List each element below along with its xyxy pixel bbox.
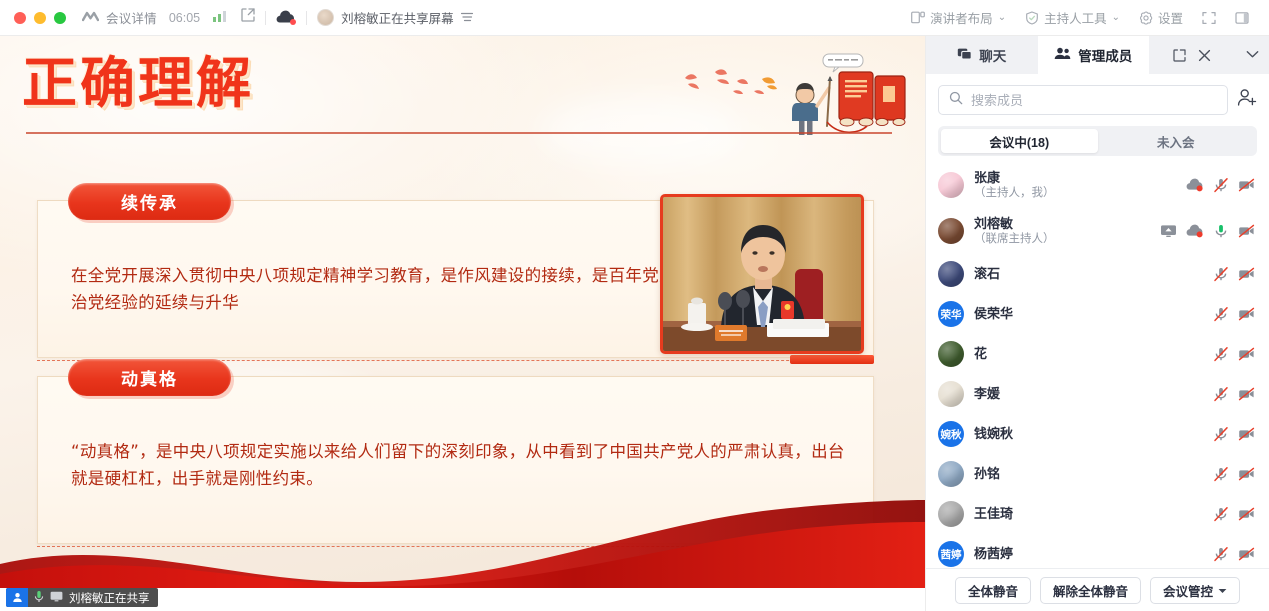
search-row bbox=[926, 74, 1269, 123]
participant-status-icons bbox=[1213, 346, 1255, 362]
speaker-layout-button[interactable]: 演讲者布局 ⌄ bbox=[903, 4, 1014, 31]
avatar: 茜婷 bbox=[938, 541, 964, 567]
camera-off-icon[interactable] bbox=[1238, 177, 1255, 193]
tencent-meeting-logo-icon bbox=[82, 9, 99, 27]
participant-row[interactable]: 张康（主持人，我） bbox=[926, 162, 1269, 208]
participant-name-block: 滚石 bbox=[974, 266, 1203, 282]
minimize-window-button[interactable] bbox=[34, 12, 46, 24]
gear-icon bbox=[1139, 11, 1153, 25]
avatar bbox=[938, 341, 964, 367]
divider bbox=[265, 11, 266, 25]
avatar bbox=[938, 218, 964, 244]
participant-name: 李媛 bbox=[974, 386, 1203, 402]
speaker-photo bbox=[660, 194, 864, 354]
participant-row[interactable]: 孙铭 bbox=[926, 454, 1269, 494]
close-window-button[interactable] bbox=[14, 12, 26, 24]
camera-off-icon[interactable] bbox=[1238, 306, 1255, 322]
search-box[interactable] bbox=[938, 85, 1228, 115]
shared-screen-stage[interactable]: 正确理解 续传承 在全党开展深入贯彻中央八项规定精神学习教育，是作风建设的接续，… bbox=[0, 36, 925, 588]
participant-status-icons bbox=[1213, 266, 1255, 282]
participant-row[interactable]: 王佳琦 bbox=[926, 494, 1269, 534]
mic-off-icon[interactable] bbox=[1213, 546, 1229, 562]
participant-status-icons bbox=[1160, 223, 1255, 239]
person-icon[interactable] bbox=[6, 588, 28, 607]
presentation-slide: 正确理解 续传承 在全党开展深入贯彻中央八项规定精神学习教育，是作风建设的接续，… bbox=[0, 36, 925, 588]
avatar bbox=[938, 261, 964, 287]
elapsed-time: 06:05 bbox=[169, 11, 200, 25]
participant-list[interactable]: 张康（主持人，我）刘榕敏（联席主持人）滚石荣华侯荣华花李媛婉秋钱婉秋孙铭王佳琦茜… bbox=[926, 162, 1269, 568]
mic-icon[interactable] bbox=[34, 590, 44, 606]
host-tools-label: 主持人工具 bbox=[1044, 8, 1107, 27]
cloud-record-icon[interactable] bbox=[276, 10, 296, 26]
unmute-all-label: 解除全体静音 bbox=[1053, 581, 1128, 600]
participant-name-block: 花 bbox=[974, 346, 1203, 362]
external-link-icon[interactable] bbox=[241, 8, 255, 27]
mic-off-icon[interactable] bbox=[1213, 506, 1229, 522]
cloud-record-icon bbox=[1186, 224, 1204, 238]
participant-name-block: 杨茜婷 bbox=[974, 546, 1203, 562]
meeting-controls-button[interactable]: 会议管控 bbox=[1150, 577, 1240, 604]
window-controls[interactable] bbox=[0, 12, 66, 24]
search-input[interactable] bbox=[971, 93, 1217, 108]
slide-title: 正确理解 bbox=[22, 56, 254, 111]
mic-off-icon[interactable] bbox=[1213, 306, 1229, 322]
titlebar-right-controls: 演讲者布局 ⌄ 主持人工具 ⌄ 设置 bbox=[903, 4, 1269, 31]
participant-status-icons bbox=[1213, 386, 1255, 402]
popout-icon[interactable] bbox=[1173, 49, 1186, 62]
card-pill-label: 续传承 bbox=[68, 183, 231, 220]
participant-name-block: 孙铭 bbox=[974, 466, 1203, 482]
mic-off-icon[interactable] bbox=[1213, 266, 1229, 282]
participant-status-icons bbox=[1213, 546, 1255, 562]
divider bbox=[306, 11, 307, 25]
participant-name-block: 刘榕敏（联席主持人） bbox=[974, 216, 1150, 247]
participant-row[interactable]: 滚石 bbox=[926, 254, 1269, 294]
sharer-avatar bbox=[317, 9, 334, 26]
camera-off-icon[interactable] bbox=[1238, 346, 1255, 362]
share-status-overlay[interactable]: 刘榕敏正在共享 bbox=[6, 588, 158, 607]
avatar bbox=[938, 461, 964, 487]
participant-name: 杨茜婷 bbox=[974, 546, 1203, 562]
camera-off-icon[interactable] bbox=[1238, 266, 1255, 282]
screen-share-icon bbox=[1160, 224, 1177, 238]
participant-row[interactable]: 婉秋钱婉秋 bbox=[926, 414, 1269, 454]
camera-off-icon[interactable] bbox=[1238, 546, 1255, 562]
layout-icon bbox=[911, 11, 925, 24]
panel-tab-bar: 聊天 管理成员 bbox=[926, 36, 1269, 74]
speaker-layout-label: 演讲者布局 bbox=[930, 8, 993, 27]
cartoon-illustration bbox=[667, 50, 917, 140]
mic-off-icon[interactable] bbox=[1213, 466, 1229, 482]
recording-indicator-dot bbox=[290, 19, 296, 25]
panel-window-controls bbox=[1149, 36, 1235, 74]
chevron-down-icon bbox=[1246, 46, 1259, 64]
close-icon[interactable] bbox=[1198, 49, 1211, 62]
screen-icon[interactable] bbox=[50, 591, 63, 605]
meeting-details-group[interactable]: 会议详情 bbox=[82, 8, 157, 27]
participant-row[interactable]: 茜婷杨茜婷 bbox=[926, 534, 1269, 568]
camera-off-icon[interactable] bbox=[1238, 506, 1255, 522]
caret-down-icon bbox=[1218, 583, 1227, 597]
camera-off-icon[interactable] bbox=[1238, 426, 1255, 442]
participant-name: 孙铭 bbox=[974, 466, 1203, 482]
mic-off-icon[interactable] bbox=[1213, 426, 1229, 442]
participant-name-block: 李媛 bbox=[974, 386, 1203, 402]
chat-icon bbox=[957, 47, 972, 64]
mic-off-icon[interactable] bbox=[1213, 177, 1229, 193]
avatar bbox=[938, 381, 964, 407]
cloud-record-icon bbox=[1186, 178, 1204, 192]
signal-bars-icon[interactable] bbox=[213, 9, 227, 27]
segment-in-meeting[interactable]: 会议中(18) bbox=[941, 129, 1098, 153]
title-underline-rule bbox=[26, 132, 892, 134]
tab-manage-members-label: 管理成员 bbox=[1078, 45, 1132, 65]
participant-name: 侯荣华 bbox=[974, 306, 1203, 322]
participant-status-icons bbox=[1213, 466, 1255, 482]
participant-name-block: 钱婉秋 bbox=[974, 426, 1203, 442]
side-panel-button[interactable] bbox=[1227, 7, 1257, 29]
mute-all-button[interactable]: 全体静音 bbox=[955, 577, 1031, 604]
fullscreen-button[interactable] bbox=[1194, 7, 1224, 29]
camera-off-icon[interactable] bbox=[1238, 386, 1255, 402]
meeting-details-label[interactable]: 会议详情 bbox=[106, 8, 157, 27]
participant-role: （主持人，我） bbox=[974, 186, 1176, 200]
meeting-controls-label: 会议管控 bbox=[1163, 581, 1213, 600]
host-tools-button[interactable]: 主持人工具 ⌄ bbox=[1017, 4, 1128, 31]
participant-name-block: 张康（主持人，我） bbox=[974, 170, 1176, 201]
participant-row[interactable]: 花 bbox=[926, 334, 1269, 374]
tab-chat-label: 聊天 bbox=[979, 45, 1006, 65]
share-overlay-text: 刘榕敏正在共享 bbox=[69, 590, 150, 606]
divider-accent-bar bbox=[790, 355, 874, 364]
participant-row[interactable]: 刘榕敏（联席主持人） bbox=[926, 208, 1269, 254]
participant-name: 张康 bbox=[974, 170, 1176, 186]
participant-row[interactable]: 荣华侯荣华 bbox=[926, 294, 1269, 334]
maximize-window-button[interactable] bbox=[54, 12, 66, 24]
chevron-down-icon: ⌄ bbox=[1112, 12, 1120, 23]
participant-status-icons bbox=[1213, 426, 1255, 442]
avatar bbox=[938, 501, 964, 527]
participant-name: 滚石 bbox=[974, 266, 1203, 282]
shield-icon bbox=[1025, 11, 1039, 25]
more-lines-icon[interactable] bbox=[461, 9, 473, 27]
camera-off-icon[interactable] bbox=[1238, 223, 1255, 239]
participant-status-icons bbox=[1213, 506, 1255, 522]
title-bar: 会议详情 06:05 刘榕敏正在共享屏幕 bbox=[0, 0, 1269, 36]
search-icon bbox=[949, 91, 963, 110]
participant-row[interactable]: 李媛 bbox=[926, 374, 1269, 414]
participant-name: 刘榕敏 bbox=[974, 216, 1150, 232]
avatar: 婉秋 bbox=[938, 421, 964, 447]
participant-filter-segments: 会议中(18) 未入会 bbox=[938, 126, 1257, 156]
participant-name: 钱婉秋 bbox=[974, 426, 1203, 442]
mic-off-icon[interactable] bbox=[1213, 346, 1229, 362]
side-panel-icon bbox=[1235, 11, 1249, 25]
fullscreen-icon bbox=[1202, 11, 1216, 25]
chevron-down-icon: ⌄ bbox=[998, 12, 1006, 23]
add-user-icon[interactable] bbox=[1237, 88, 1257, 112]
people-icon bbox=[1054, 47, 1071, 63]
participant-name: 花 bbox=[974, 346, 1203, 362]
avatar bbox=[938, 172, 964, 198]
right-side-panel: 聊天 管理成员 bbox=[925, 36, 1269, 611]
mic-off-icon[interactable] bbox=[1213, 386, 1229, 402]
avatar: 荣华 bbox=[938, 301, 964, 327]
panel-footer: 全体静音 解除全体静音 会议管控 bbox=[926, 568, 1269, 611]
participant-name: 王佳琦 bbox=[974, 506, 1203, 522]
participant-name-block: 侯荣华 bbox=[974, 306, 1203, 322]
participant-status-icons bbox=[1186, 177, 1255, 193]
participant-status-icons bbox=[1213, 306, 1255, 322]
tab-chat[interactable]: 聊天 bbox=[926, 36, 1038, 74]
mic-on-icon[interactable] bbox=[1213, 223, 1229, 239]
sharing-status-text: 刘榕敏正在共享屏幕 bbox=[341, 8, 454, 27]
collapse-panel-button[interactable] bbox=[1235, 36, 1269, 74]
settings-button[interactable]: 设置 bbox=[1131, 4, 1191, 31]
participant-role: （联席主持人） bbox=[974, 232, 1150, 246]
unmute-all-button[interactable]: 解除全体静音 bbox=[1040, 577, 1141, 604]
mute-all-label: 全体静音 bbox=[968, 581, 1018, 600]
camera-off-icon[interactable] bbox=[1238, 466, 1255, 482]
segment-not-joined[interactable]: 未入会 bbox=[1098, 129, 1255, 153]
settings-label: 设置 bbox=[1158, 8, 1183, 27]
participant-name-block: 王佳琦 bbox=[974, 506, 1203, 522]
card-pill-label: 动真格 bbox=[68, 359, 231, 396]
tab-manage-members[interactable]: 管理成员 bbox=[1038, 36, 1150, 74]
red-wave-decoration bbox=[0, 478, 925, 588]
